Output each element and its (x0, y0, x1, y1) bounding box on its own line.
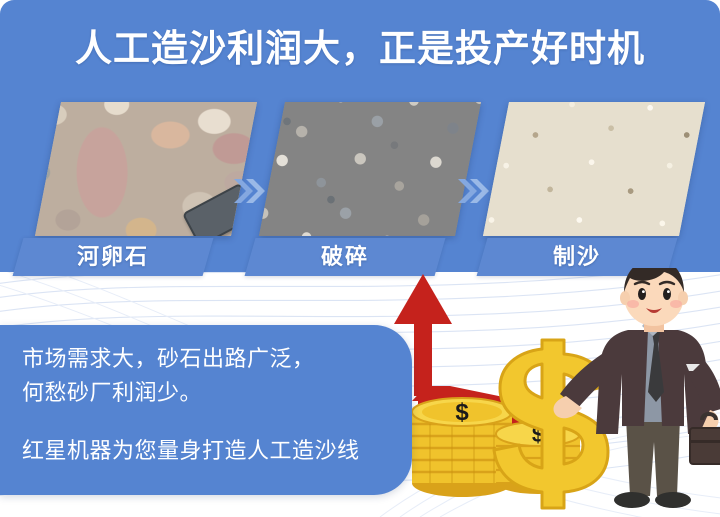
message-line-3: 红星机器为您量身打造人工造沙线 (22, 435, 360, 467)
process-step-2 (272, 102, 468, 236)
message-box: 市场需求大，砂石出路广泛， 何愁砂厂利润少。 红星机器为您量身打造人工造沙线 (0, 325, 412, 495)
process-step-1 (48, 102, 244, 236)
process-arrow-2-icon (456, 176, 490, 206)
crushed-gravel-photo (259, 102, 481, 236)
poster-canvas: 人工造沙利润大，正是投产好时机 河卵石 破碎 制沙 (0, 0, 720, 517)
page-title: 人工造沙利润大，正是投产好时机 (0, 26, 720, 72)
manufactured-sand-photo (483, 102, 705, 236)
message-line-2: 何愁砂厂利润少。 (22, 377, 202, 409)
step-1-label: 河卵石 (18, 238, 208, 276)
process-step-3 (496, 102, 692, 236)
profit-growth-illustration: $ $ (390, 268, 720, 517)
process-arrow-1-icon (232, 176, 266, 206)
message-line-1: 市场需求大，砂石出路广泛， (22, 343, 315, 375)
svg-text:$: $ (455, 399, 469, 426)
river-pebbles-photo (35, 102, 257, 236)
